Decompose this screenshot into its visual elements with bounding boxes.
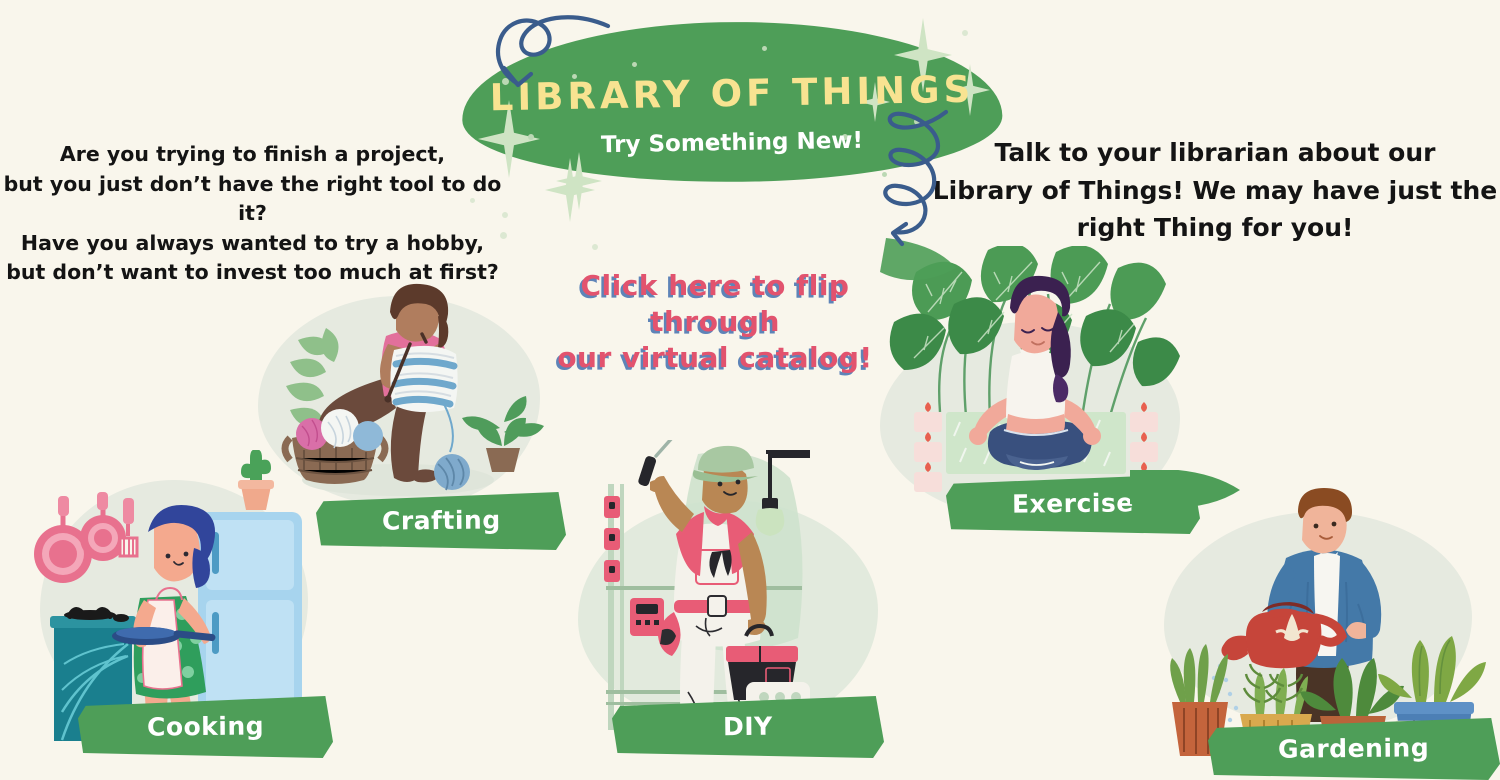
intro-line: Have you always wanted to try a hobby, — [0, 229, 505, 259]
category-ribbon-diy[interactable]: DIY — [612, 696, 884, 758]
outro-line: Library of Things! We may have just the — [930, 172, 1500, 210]
cta-line: our virtual catalog! — [520, 340, 910, 376]
category-ribbon-gardening[interactable]: Gardening — [1208, 718, 1500, 780]
category-card-diy[interactable]: DIY — [570, 440, 900, 770]
curly-arrow-left-icon — [480, 8, 630, 118]
dot-decoration — [592, 244, 598, 250]
outro-line: right Thing for you! — [930, 209, 1500, 247]
dot-decoration — [502, 212, 508, 218]
corner-leaf-decoration — [1130, 470, 1250, 560]
poster-canvas: LIBRARY OF THINGS Try Something New! Are… — [0, 0, 1500, 780]
dot-decoration — [632, 62, 637, 67]
intro-line: but you just don’t have the right tool t… — [0, 170, 505, 229]
outro-line: Talk to your librarian about our — [930, 134, 1500, 172]
category-label: Gardening — [1278, 733, 1429, 764]
catalog-cta-link[interactable]: Click here to flip through our virtual c… — [520, 268, 910, 375]
dot-decoration — [962, 30, 968, 36]
dot-decoration — [470, 198, 475, 203]
category-label: Crafting — [382, 505, 501, 535]
dot-decoration — [500, 232, 507, 239]
cta-line: Click here to flip through — [520, 268, 910, 340]
category-card-crafting[interactable]: Crafting — [238, 282, 568, 538]
category-label: Cooking — [147, 711, 264, 741]
category-ribbon-cooking[interactable]: Cooking — [78, 696, 333, 758]
intro-line: Are you trying to finish a project, — [0, 140, 505, 170]
dot-decoration — [762, 46, 767, 51]
outro-paragraph: Talk to your librarian about our Library… — [930, 134, 1500, 247]
spiral-arrow-right-icon — [862, 96, 982, 256]
category-ribbon-crafting[interactable]: Crafting — [316, 492, 566, 550]
category-label: DIY — [723, 711, 773, 741]
category-label: Exercise — [1012, 488, 1134, 518]
intro-paragraph: Are you trying to finish a project, but … — [0, 140, 505, 288]
